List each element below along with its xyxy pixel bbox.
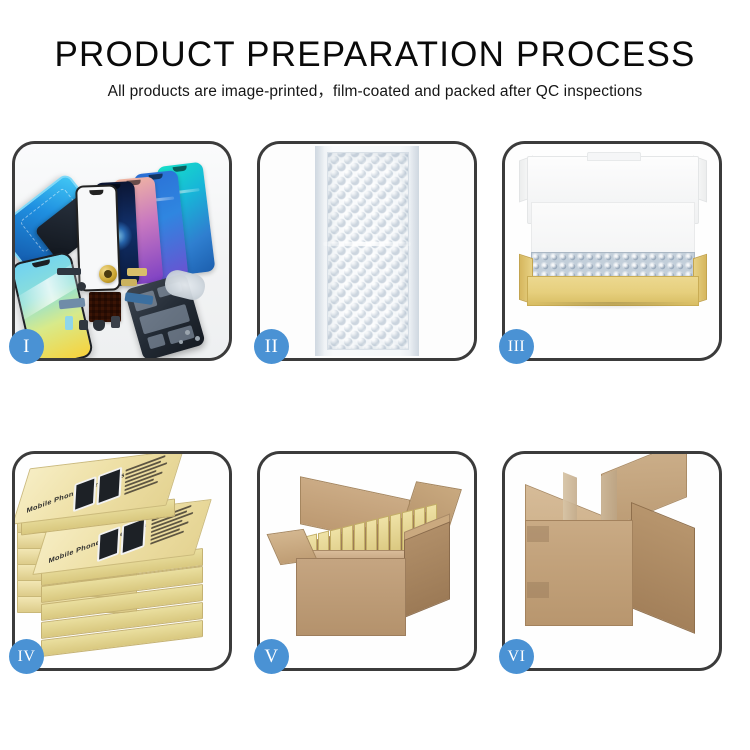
step-badge-4: IV [9, 639, 44, 674]
wrap-edge-right [409, 146, 419, 356]
header: PRODUCT PREPARATION PROCESS All products… [0, 0, 750, 101]
carton-seam-bottom [527, 582, 549, 598]
mailer-box-shadow [531, 302, 693, 310]
wrap-seal-line [323, 242, 411, 246]
screw-part-1 [185, 330, 190, 335]
connector-part-1 [65, 316, 73, 330]
step-panel-1[interactable]: I [12, 141, 232, 361]
screw-part-2 [195, 336, 200, 341]
earpiece-part [57, 268, 81, 275]
step-panel-3[interactable]: III [502, 141, 722, 361]
speaker-coil-part [99, 265, 117, 283]
carton-seam-top [527, 526, 549, 542]
step-6-image [505, 454, 719, 668]
step-badge-3: III [499, 329, 534, 364]
infographic-page: PRODUCT PREPARATION PROCESS All products… [0, 0, 750, 750]
sealed-carton-side [631, 502, 695, 634]
page-subtitle: All products are image-printed，film-coat… [0, 74, 750, 101]
bubble-wrap-bubbles [327, 152, 409, 350]
connector-part-2 [79, 320, 88, 330]
connector-part-3 [93, 320, 105, 331]
box-screen-image-1a [73, 476, 97, 512]
step-4-image: Mobile Phone Spare Parts Mobile Phone Sp… [15, 454, 229, 668]
process-steps-grid: I II [0, 126, 750, 696]
flex-cable-part-4 [121, 279, 137, 286]
step-badge-2: II [254, 329, 289, 364]
retail-box-stack: Mobile Phone Spare Parts Mobile Phone Sp… [15, 454, 229, 668]
step-panel-2[interactable]: II [257, 141, 477, 361]
page-title: PRODUCT PREPARATION PROCESS [0, 0, 750, 74]
box-screen-image-1b [96, 467, 122, 506]
step-panel-5[interactable]: V [257, 451, 477, 671]
step-badge-1: I [9, 329, 44, 364]
step-panel-6[interactable]: VI [502, 451, 722, 671]
box-spec-lines-1 [124, 454, 172, 497]
box-screen-image-2a [97, 526, 121, 562]
step-2-image [260, 144, 474, 358]
wrap-edge-left [315, 146, 325, 356]
carton-side-right [404, 521, 450, 618]
screw-part-3 [179, 340, 183, 344]
step-badge-6: VI [499, 639, 534, 674]
step-panel-4[interactable]: Mobile Phone Spare Parts Mobile Phone Sp… [12, 451, 232, 671]
step-5-image [260, 454, 474, 668]
step-1-image [15, 144, 229, 358]
camera-lens-part [77, 282, 86, 291]
flex-cable-part-3 [127, 268, 147, 276]
connector-part-4 [111, 316, 120, 328]
carton-front-face [296, 558, 406, 636]
step-badge-5: V [254, 639, 289, 674]
step-3-image [505, 144, 719, 358]
